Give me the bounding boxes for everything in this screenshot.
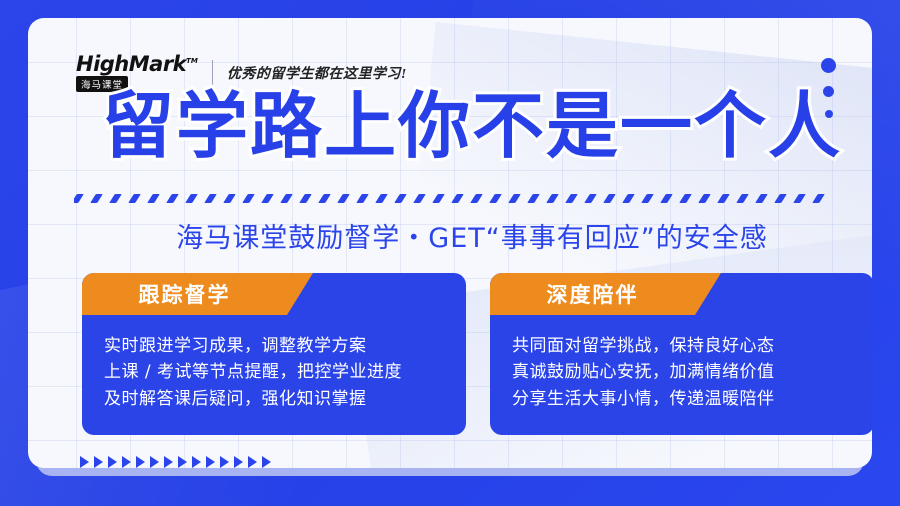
dash-mark	[375, 194, 388, 203]
dash-mark	[622, 194, 635, 203]
card-line: 及时解答课后疑问，强化知识掌握	[104, 386, 466, 412]
dash-mark	[736, 194, 749, 203]
arrow-icon	[164, 456, 173, 468]
arrow-icon	[80, 456, 89, 468]
dash-mark	[413, 194, 426, 203]
dash-mark	[603, 194, 616, 203]
dash-mark	[109, 194, 122, 203]
dash-mark	[774, 194, 787, 203]
card-ribbon: 深度陪伴	[490, 273, 695, 315]
dash-mark	[128, 194, 141, 203]
dash-mark	[812, 194, 825, 203]
dash-mark	[565, 194, 578, 203]
card-line: 真诚鼓励贴心安抚，加满情绪价值	[512, 359, 872, 385]
dash-mark	[185, 194, 198, 203]
arrow-icon	[262, 456, 271, 468]
logo-wordmark: HighMarkTM	[76, 54, 198, 75]
dash-mark	[584, 194, 597, 203]
dash-mark	[337, 194, 350, 203]
arrow-icon	[248, 456, 257, 468]
dash-mark	[679, 194, 692, 203]
feature-cards: 跟踪督学 实时跟进学习成果，调整教学方案 上课 / 考试等节点提醒，把控学业进度…	[82, 273, 872, 435]
dash-mark	[470, 194, 483, 203]
dash-mark	[280, 194, 293, 203]
dash-mark	[261, 194, 274, 203]
arrow-icon	[206, 456, 215, 468]
dash-mark	[546, 194, 559, 203]
dash-mark	[451, 194, 464, 203]
arrow-icon	[94, 456, 103, 468]
dash-mark	[394, 194, 407, 203]
dash-mark	[527, 194, 540, 203]
arrow-icon	[220, 456, 229, 468]
dash-mark	[432, 194, 445, 203]
brand-tagline: 优秀的留学生都在这里学习!	[227, 63, 407, 83]
dash-mark	[641, 194, 654, 203]
arrow-icon	[234, 456, 243, 468]
dash-mark	[147, 194, 160, 203]
card-body: 共同面对留学挑战，保持良好心态 真诚鼓励贴心安抚，加满情绪价值 分享生活大事小情…	[490, 315, 872, 412]
arrow-icon	[136, 456, 145, 468]
dash-mark	[74, 194, 84, 203]
dash-mark	[299, 194, 312, 203]
logo-trademark: TM	[186, 57, 198, 65]
dash-mark	[698, 194, 711, 203]
arrow-icon	[122, 456, 131, 468]
feature-card: 深度陪伴 共同面对留学挑战，保持良好心态 真诚鼓励贴心安抚，加满情绪价值 分享生…	[490, 273, 872, 435]
dash-mark	[204, 194, 217, 203]
dash-mark	[717, 194, 730, 203]
headline: 留学路上你不是一个人	[58, 90, 872, 162]
dash-mark	[508, 194, 521, 203]
card-line: 共同面对留学挑战，保持良好心态	[512, 333, 872, 359]
dash-mark	[90, 194, 103, 203]
dash-mark	[318, 194, 331, 203]
card-title: 深度陪伴	[547, 279, 639, 309]
dash-mark	[755, 194, 768, 203]
dash-mark	[166, 194, 179, 203]
dash-mark	[223, 194, 236, 203]
feature-card: 跟踪督学 实时跟进学习成果，调整教学方案 上课 / 考试等节点提醒，把控学业进度…	[82, 273, 466, 435]
dash-mark	[489, 194, 502, 203]
dashed-divider	[74, 194, 872, 206]
dash-mark	[793, 194, 806, 203]
arrow-icon	[178, 456, 187, 468]
decorative-arrows	[80, 456, 271, 468]
promo-banner: HighMarkTM 海马课堂 优秀的留学生都在这里学习! 留学路上你不是一个人…	[0, 0, 900, 506]
card-line: 分享生活大事小情，传递温暖陪伴	[512, 386, 872, 412]
arrow-icon	[108, 456, 117, 468]
subtitle: 海马课堂鼓励督学・GET“事事有回应”的安全感	[58, 216, 872, 255]
content-panel: HighMarkTM 海马课堂 优秀的留学生都在这里学习! 留学路上你不是一个人…	[28, 18, 872, 468]
dash-mark	[660, 194, 673, 203]
card-body: 实时跟进学习成果，调整教学方案 上课 / 考试等节点提醒，把控学业进度 及时解答…	[82, 315, 466, 412]
arrow-icon	[150, 456, 159, 468]
card-line: 实时跟进学习成果，调整教学方案	[104, 333, 466, 359]
dash-mark	[242, 194, 255, 203]
card-ribbon: 跟踪督学	[82, 273, 287, 315]
logo-wordmark-text: HighMark	[76, 52, 186, 76]
card-title: 跟踪督学	[139, 279, 231, 309]
dash-mark	[356, 194, 369, 203]
header-divider	[212, 60, 213, 86]
arrow-icon	[192, 456, 201, 468]
dot-large	[821, 58, 836, 73]
card-line: 上课 / 考试等节点提醒，把控学业进度	[104, 359, 466, 385]
